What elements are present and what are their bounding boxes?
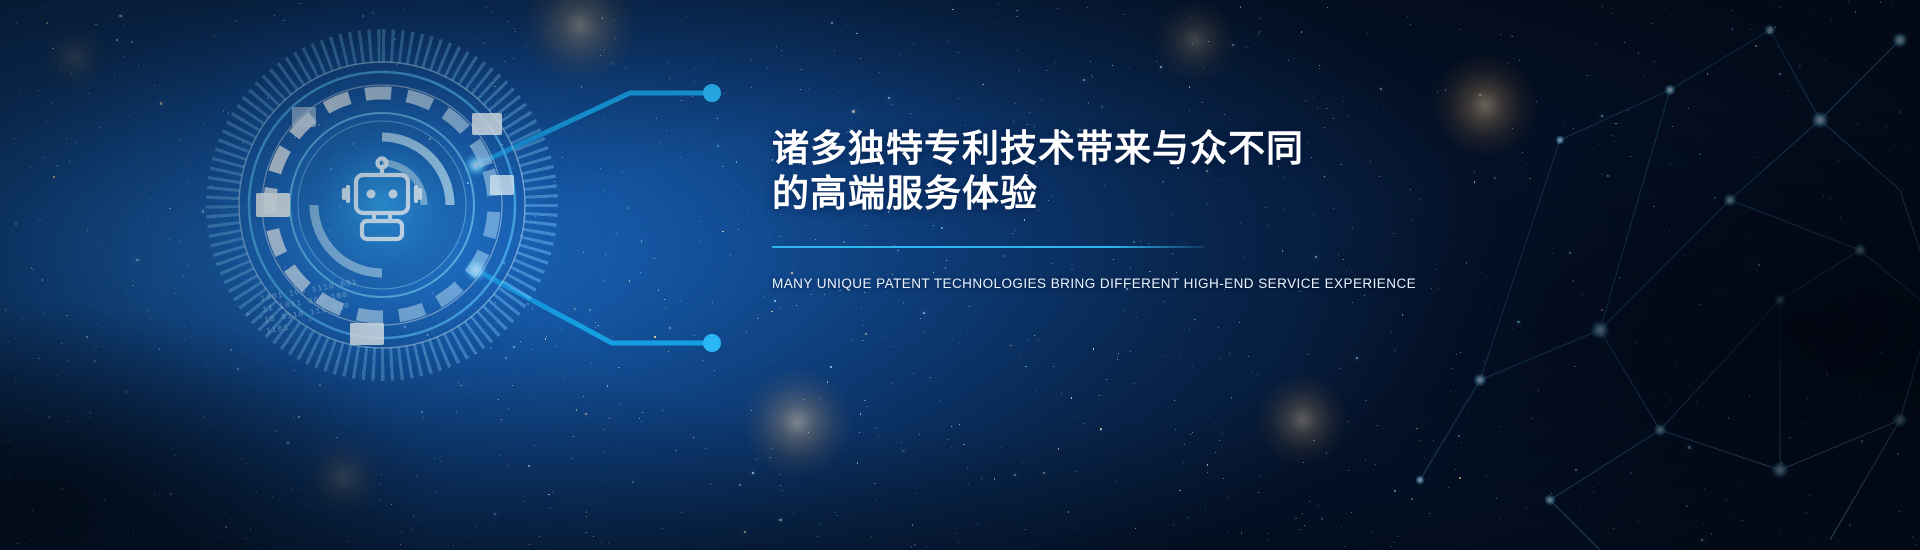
robot-icon [322, 143, 442, 263]
subtitle-text: MANY UNIQUE PATENT TECHNOLOGIES BRING DI… [772, 276, 1412, 291]
hero-copy: 诸多独特专利技术带来与众不同 的高端服务体验 MANY UNIQUE PATEN… [772, 126, 1412, 291]
headline-line-2: 的高端服务体验 [772, 171, 1412, 216]
nebula-glow [1255, 375, 1350, 465]
accent-divider [772, 246, 1204, 248]
nebula-glow [300, 440, 385, 515]
hero-banner: 1001 100 1110 001 11 1011 001 100 10 011… [0, 0, 1920, 550]
nebula-glow [1430, 55, 1540, 155]
headline-line-1: 诸多独特专利技术带来与众不同 [772, 126, 1412, 171]
nebula-glow [740, 370, 855, 475]
circular-hud-graphic [232, 55, 532, 355]
nebula-glow [40, 25, 110, 90]
nebula-glow [1150, 0, 1240, 80]
